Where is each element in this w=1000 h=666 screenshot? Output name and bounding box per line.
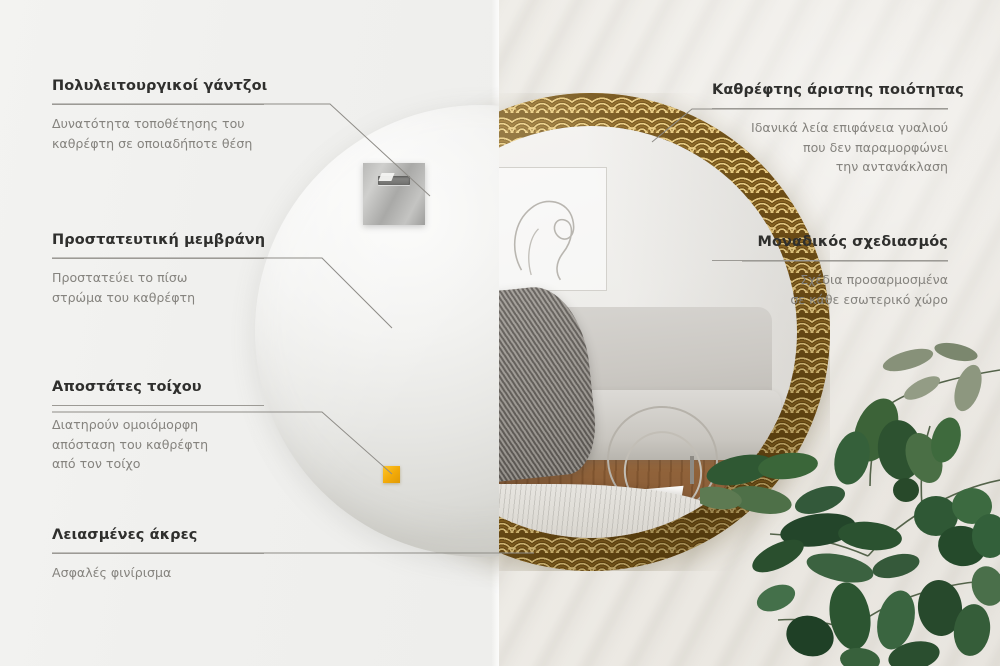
feature-hooks: Πολυλειτουργικοί γάντζοι Δυνατότητα τοπο…	[52, 78, 264, 153]
feature-quality-title: Καθρέφτης άριστης ποιότητας	[712, 82, 948, 99]
feature-edges-description: Ασφαλές φινίρισμα	[52, 563, 264, 583]
feature-hooks-description: Δυνατότητα τοποθέτησης τουκαθρέφτη σε οπ…	[52, 114, 264, 153]
feature-membrane: Προστατευτική μεμβράνη Προστατεύει το πί…	[52, 232, 264, 307]
feature-spacers-description: Διατηρούν ομοιόμορφηαπόσταση του καθρέφτ…	[52, 415, 264, 474]
feature-hooks-rule	[52, 104, 264, 105]
infographic-canvas: Πολυλειτουργικοί γάντζοι Δυνατότητα τοπο…	[0, 0, 1000, 666]
feature-quality-rule	[712, 108, 948, 109]
feature-hooks-title: Πολυλειτουργικοί γάντζοι	[52, 78, 264, 95]
feature-design-description: Σχέδια προσαρμοσμένασε κάθε εσωτερικό χώ…	[712, 270, 948, 309]
feature-quality-description: Ιδανικά λεία επιφάνεια γυαλιούπου δεν πα…	[712, 118, 948, 177]
feature-spacers: Αποστάτες τοίχου Διατηρούν ομοιόμορφηαπό…	[52, 379, 264, 474]
feature-membrane-rule	[52, 258, 264, 259]
feature-membrane-description: Προστατεύει το πίσωστρώμα του καθρέφτη	[52, 268, 264, 307]
reflected-wall-art-frame-front	[484, 167, 608, 291]
feature-quality: Καθρέφτης άριστης ποιότητας Ιδανικά λεία…	[712, 82, 948, 177]
feature-design-rule	[712, 260, 948, 261]
feature-edges: Λειασμένες άκρες Ασφαλές φινίρισμα	[52, 527, 264, 583]
wall-spacer	[383, 466, 400, 483]
line-art-portrait-icon-front	[485, 168, 607, 290]
feature-spacers-title: Αποστάτες τοίχου	[52, 379, 264, 396]
feature-spacers-rule	[52, 405, 264, 406]
feature-design: Μοναδικός σχεδιασμός Σχέδια προσαρμοσμέν…	[712, 234, 948, 309]
feature-edges-title: Λειασμένες άκρες	[52, 527, 264, 544]
feature-design-title: Μοναδικός σχεδιασμός	[712, 234, 948, 251]
feature-edges-rule	[52, 553, 264, 554]
feature-membrane-title: Προστατευτική μεμβράνη	[52, 232, 264, 249]
